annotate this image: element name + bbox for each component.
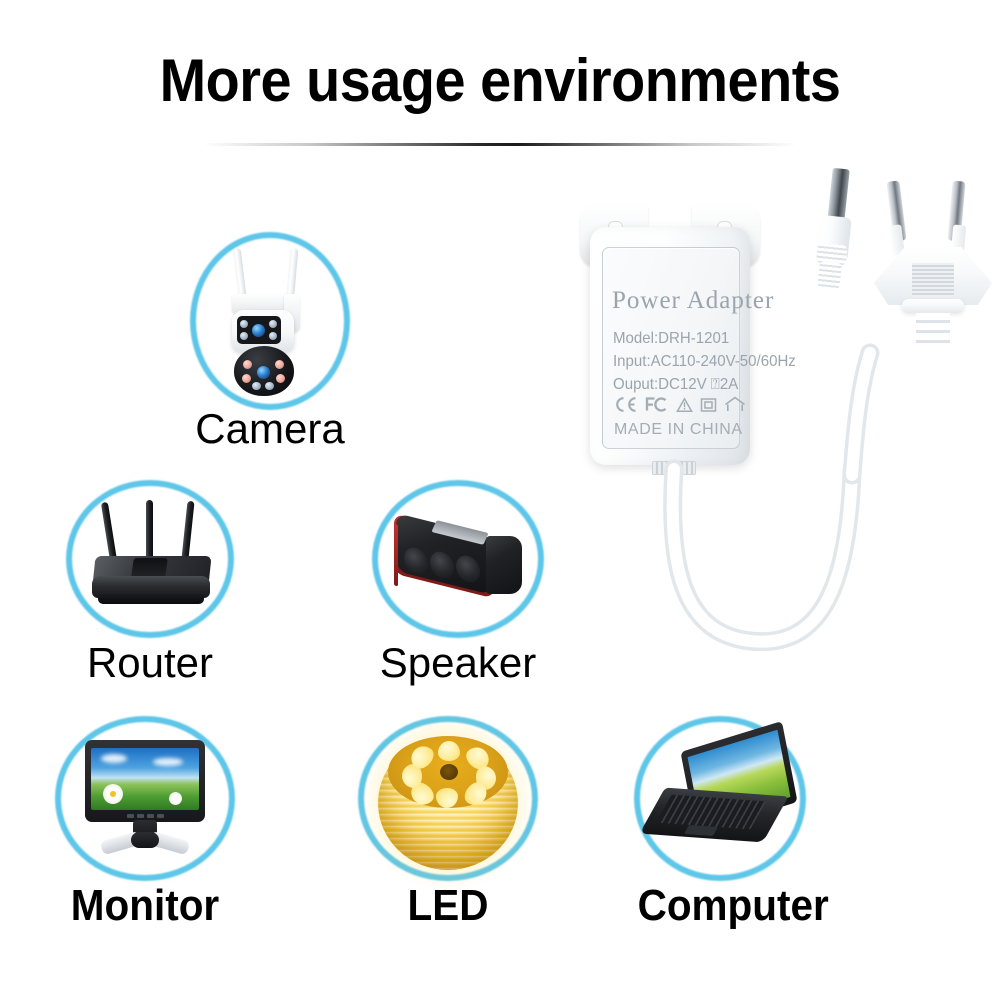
led-strip-reel-icon [364, 722, 532, 878]
tile-label: LED [365, 882, 531, 930]
security-camera-icon [212, 248, 332, 398]
tile-router[interactable]: Router [66, 480, 234, 690]
tile-label: Speaker [372, 640, 544, 686]
tile-computer[interactable]: Computer [630, 716, 820, 934]
tile-monitor[interactable]: Monitor [55, 716, 235, 934]
tile-label: Monitor [62, 882, 228, 930]
lcd-monitor-icon [75, 736, 215, 864]
dc-barrel-plug [799, 166, 882, 303]
bluetooth-speaker-icon [386, 510, 530, 610]
eu-ac-plug [872, 179, 1000, 349]
ac-cord [560, 325, 1000, 525]
power-adapter-product: Power Adapter Model:DRH-1201 Input:AC110… [560, 165, 1000, 665]
title-divider [203, 143, 797, 146]
adapter-brand-text: Power Adapter [612, 287, 774, 315]
tile-led[interactable]: LED [358, 716, 538, 934]
tile-camera[interactable]: Camera [190, 232, 350, 452]
tile-speaker[interactable]: Speaker [372, 480, 544, 690]
laptop-icon [642, 734, 802, 864]
tile-label: Router [66, 640, 234, 686]
tile-label: Computer [638, 882, 813, 930]
page-title: More usage environments [35, 48, 965, 114]
tile-label: Camera [190, 406, 350, 452]
wifi-router-icon [84, 500, 218, 620]
